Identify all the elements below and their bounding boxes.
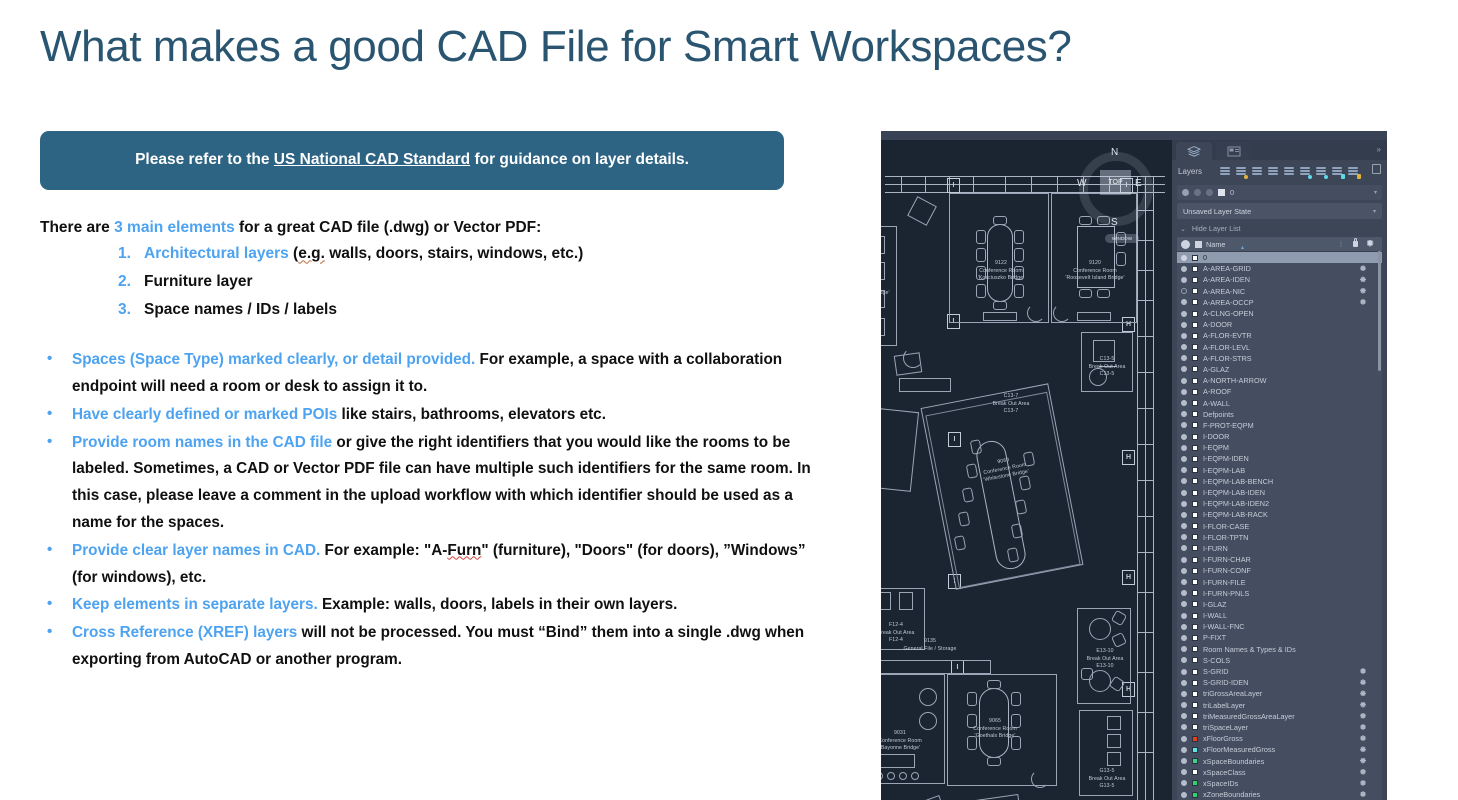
layer-visibility-icon[interactable] xyxy=(1181,512,1187,518)
room-label: 9120 Conference Room 'Roosevelt Island B… xyxy=(1063,260,1127,283)
layer-color-swatch[interactable] xyxy=(1192,311,1198,317)
break-area-label: C13-7 Break Out Area C13-7 xyxy=(987,393,1035,416)
layer-row[interactable]: xZoneBoundaries xyxy=(1177,789,1382,800)
layer-visibility-icon[interactable] xyxy=(1181,590,1187,596)
bullet-rest: Example: walls, doors, labels in their o… xyxy=(318,596,678,613)
layer-name: I-FURN xyxy=(1203,544,1348,553)
layer-color-swatch[interactable] xyxy=(1192,713,1198,719)
layer-row[interactable]: xSpaceBoundaries xyxy=(1177,755,1382,766)
layer-color-swatch[interactable] xyxy=(1192,680,1198,686)
layer-visibility-icon[interactable] xyxy=(1181,355,1187,361)
layer-row[interactable]: S-GRID xyxy=(1177,666,1382,677)
list-item-squiggle: e.g. xyxy=(298,245,325,262)
layer-visibility-icon[interactable] xyxy=(1181,769,1187,775)
layer-name: I-FURN-PNLS xyxy=(1203,589,1348,598)
layer-color-swatch[interactable] xyxy=(1192,780,1198,786)
layer-row[interactable]: A-AREA-OCCP xyxy=(1177,297,1382,308)
layer-visibility-icon[interactable] xyxy=(1181,378,1187,384)
layer-visibility-icon[interactable] xyxy=(1181,467,1187,473)
layer-color-swatch[interactable] xyxy=(1192,467,1198,473)
list-item-number: 1. xyxy=(118,245,144,263)
break-area-code: E13-10 xyxy=(1096,663,1113,669)
new-layer-button[interactable] xyxy=(1218,164,1233,179)
intro-line: There are 3 main elements for a great CA… xyxy=(40,218,830,237)
layer-list-scrollbar[interactable] xyxy=(1378,251,1381,371)
layer-name: I-WALL xyxy=(1203,611,1348,620)
layer-row[interactable]: triGrossAreaLayer xyxy=(1177,688,1382,699)
layer-color-swatch[interactable] xyxy=(1192,266,1198,272)
layer-row[interactable]: A-GLAZ xyxy=(1177,364,1382,375)
room-id: 9120 xyxy=(1089,260,1101,266)
layer-row[interactable]: I-FURN xyxy=(1177,543,1382,554)
current-layer-name: 0 xyxy=(1230,188,1234,197)
layer-row[interactable]: S-COLS xyxy=(1177,655,1382,666)
layer-visibility-icon[interactable] xyxy=(1181,702,1187,708)
layer-color-swatch[interactable] xyxy=(1192,747,1198,753)
layer-color-swatch[interactable] xyxy=(1192,478,1198,484)
layer-row[interactable]: triLabelLayer xyxy=(1177,700,1382,711)
layer-color-swatch[interactable] xyxy=(1192,411,1198,417)
layer-row[interactable]: P-FIXT xyxy=(1177,632,1382,643)
layer-row[interactable]: A-FLOR-EVTR xyxy=(1177,330,1382,341)
layer-visibility-icon[interactable] xyxy=(1181,747,1187,753)
break-area-id: C13-7 xyxy=(1004,393,1019,399)
list-item: Provide room names in the CAD file or gi… xyxy=(40,430,830,537)
list-item: 1. Architectural layers (e.g. walls, doo… xyxy=(40,245,830,263)
layer-name: I-FLOR-CASE xyxy=(1203,522,1348,531)
layer-color-swatch[interactable] xyxy=(1192,792,1198,798)
layer-color-swatch[interactable] xyxy=(1192,288,1198,294)
layer-visibility-icon[interactable] xyxy=(1181,400,1187,406)
layer-visibility-icon[interactable] xyxy=(1181,299,1187,305)
room-alias: 'Roosevelt Island Bridge' xyxy=(1065,275,1124,281)
layer-visibility-icon[interactable] xyxy=(1181,557,1187,563)
layer-color-swatch[interactable] xyxy=(1192,702,1198,708)
layer-unlock-button[interactable] xyxy=(1346,164,1361,179)
color-column-icon[interactable] xyxy=(1195,241,1202,248)
layer-color-swatch[interactable] xyxy=(1192,601,1198,607)
compass-west: W xyxy=(1077,178,1086,189)
layer-row[interactable]: Defpoints xyxy=(1177,409,1382,420)
layer-visibility-icon[interactable] xyxy=(1181,288,1187,294)
list-item: Keep elements in separate layers. Exampl… xyxy=(40,592,830,619)
layer-name: I-EQPM-IDEN xyxy=(1203,454,1348,463)
layer-visibility-icon[interactable] xyxy=(1181,277,1187,283)
break-area-code: C13-7 xyxy=(1004,408,1019,414)
layer-freeze-button[interactable] xyxy=(1298,164,1313,179)
layer-name: A-FLOR-STRS xyxy=(1203,354,1348,363)
layer-row[interactable]: I-DOOR xyxy=(1177,431,1382,442)
layer-visibility-icon[interactable] xyxy=(1181,545,1187,551)
layer-color-swatch[interactable] xyxy=(1192,545,1198,551)
layer-row[interactable]: S-GRID-IDEN xyxy=(1177,677,1382,688)
layer-visibility-icon[interactable] xyxy=(1181,724,1187,730)
plot-icon xyxy=(1360,668,1366,674)
plot-icon xyxy=(1360,702,1366,708)
list-item: Cross Reference (XREF) layers will not b… xyxy=(40,620,830,674)
layer-visibility-icon[interactable] xyxy=(1181,389,1187,395)
bullet-accent: Have clearly defined or marked POIs xyxy=(72,406,337,423)
break-area-name: Break Out Area xyxy=(1089,776,1126,782)
layer-color-swatch[interactable] xyxy=(1192,557,1198,563)
palette-title: Layers xyxy=(1178,167,1218,176)
banner-text-after: for guidance on layer details. xyxy=(470,151,689,168)
compass-north: N xyxy=(1111,147,1118,158)
layer-plot-cell[interactable] xyxy=(1348,298,1378,307)
layer-color-swatch[interactable] xyxy=(1192,534,1198,540)
layer-color-swatch[interactable] xyxy=(1192,434,1198,440)
layer-name: I-FURN-CHAR xyxy=(1203,555,1348,564)
layer-row[interactable]: I-EQPM-LAB-BENCH xyxy=(1177,476,1382,487)
layer-name: A-ROOF xyxy=(1203,387,1348,396)
layer-color-swatch[interactable] xyxy=(1192,501,1198,507)
collapse-chevrons-icon[interactable]: » xyxy=(1377,145,1381,154)
chevron-down-icon[interactable]: ▾ xyxy=(1374,189,1377,196)
list-item-number: 2. xyxy=(118,273,144,291)
bullet-accent: Keep elements in separate layers. xyxy=(72,596,318,613)
layer-visibility-icon[interactable] xyxy=(1181,456,1187,462)
layer-color-swatch[interactable] xyxy=(1192,355,1198,361)
layer-visibility-icon[interactable] xyxy=(1181,411,1187,417)
layer-visibility-icon[interactable] xyxy=(1181,366,1187,372)
layer-row[interactable]: I-FLOR-TPTN xyxy=(1177,532,1382,543)
bullet-accent: Cross Reference (XREF) layers xyxy=(72,624,297,641)
layer-row[interactable]: A-AREA-GRID xyxy=(1177,263,1382,274)
layer-visibility-icon[interactable] xyxy=(1181,579,1187,585)
layer-plot-cell[interactable] xyxy=(1348,701,1378,710)
layer-name: I-DOOR xyxy=(1203,432,1348,441)
break-area-label: G13-5 Break Out Area G13-5 xyxy=(1083,768,1131,791)
layer-properties-button[interactable] xyxy=(1234,164,1249,179)
layer-color-swatch[interactable] xyxy=(1192,422,1198,428)
layer-row[interactable]: A-CLNG-OPEN xyxy=(1177,308,1382,319)
intro-accent: 3 main elements xyxy=(114,219,235,236)
layer-thaw-button[interactable] xyxy=(1314,164,1329,179)
us-national-cad-standard-link[interactable]: US National CAD Standard xyxy=(274,151,470,168)
layer-plot-cell[interactable] xyxy=(1348,745,1378,754)
layer-color-swatch[interactable] xyxy=(1192,646,1198,652)
layer-state-select[interactable]: Unsaved Layer State ▾ xyxy=(1177,203,1382,219)
list-item-accent: Furniture layer xyxy=(144,273,253,291)
layer-name: A-DOOR xyxy=(1203,320,1348,329)
room-name: Conference Room xyxy=(881,738,922,744)
layer-color-swatch[interactable] xyxy=(1192,758,1198,764)
layer-row[interactable]: xFloorMeasuredGross xyxy=(1177,744,1382,755)
palette-tabs: » xyxy=(1172,140,1387,160)
visibility-column-icon[interactable] xyxy=(1181,240,1190,249)
chevron-down-icon: ⌄ xyxy=(1180,225,1186,233)
layer-plot-cell[interactable] xyxy=(1348,723,1378,732)
list-item: Provide clear layer names in CAD. For ex… xyxy=(40,538,830,592)
layer-visibility-icon[interactable] xyxy=(1181,601,1187,607)
layer-visibility-icon[interactable] xyxy=(1181,434,1187,440)
bullet-rest-a: For example: "A- xyxy=(320,542,447,559)
layer-visibility-icon[interactable] xyxy=(1181,490,1187,496)
list-item: 3. Space names / IDs / labels xyxy=(40,301,830,319)
plot-icon xyxy=(1360,769,1366,775)
layer-color-swatch[interactable] xyxy=(1192,277,1198,283)
layer-name: A-WALL xyxy=(1203,399,1348,408)
layer-plot-cell[interactable] xyxy=(1348,667,1378,676)
freeze-icon[interactable] xyxy=(1206,189,1213,196)
slide-root: What makes a good CAD File for Smart Wor… xyxy=(0,0,1458,800)
layer-name: I-FURN-FILE xyxy=(1203,578,1348,587)
content-column: There are 3 main elements for a great CA… xyxy=(40,218,830,675)
layer-color-swatch[interactable] xyxy=(1192,255,1198,261)
plot-column-icon[interactable] xyxy=(1362,240,1378,249)
plot-icon xyxy=(1360,265,1366,271)
lock-icon[interactable] xyxy=(1194,189,1201,196)
layer-visibility-icon[interactable] xyxy=(1181,523,1187,529)
layer-row[interactable]: xSpaceClass xyxy=(1177,767,1382,778)
layer-visibility-icon[interactable] xyxy=(1181,780,1187,786)
layer-color-swatch[interactable] xyxy=(1192,344,1198,350)
layer-visibility-icon[interactable] xyxy=(1181,311,1187,317)
room-label: 9122 Conference Room 'Kosciuszko Bridge' xyxy=(971,260,1031,283)
hide-layer-list-toggle[interactable]: ⌄ Hide Layer List xyxy=(1177,222,1382,235)
layer-color-swatch[interactable] xyxy=(1192,400,1198,406)
layer-color-swatch[interactable] xyxy=(1192,523,1198,529)
layer-row[interactable]: A-DOOR xyxy=(1177,319,1382,330)
layer-name: I-EQPM-LAB-RACK xyxy=(1203,510,1348,519)
layer-color-swatch[interactable] xyxy=(1192,736,1198,742)
bullet-accent: Spaces (Space Type) marked clearly, or d… xyxy=(72,351,475,368)
break-area-label: C13-5 Break Out Area C13-5 xyxy=(1083,356,1131,379)
layer-name: P-FIXT xyxy=(1203,633,1348,642)
break-area-id: E13-10 xyxy=(1096,648,1113,654)
layer-visibility-icon[interactable] xyxy=(1181,568,1187,574)
layer-visibility-icon[interactable] xyxy=(1181,657,1187,663)
layer-color-swatch[interactable] xyxy=(1192,579,1198,585)
layer-row[interactable]: I-EQPM-LAB xyxy=(1177,465,1382,476)
layer-color-swatch[interactable] xyxy=(1192,456,1198,462)
layer-lock-button[interactable] xyxy=(1330,164,1345,179)
layer-color-swatch[interactable] xyxy=(1192,299,1198,305)
layer-row[interactable]: I-EQPM xyxy=(1177,442,1382,453)
layer-color-swatch[interactable] xyxy=(1192,657,1198,663)
main-elements-list: 1. Architectural layers (e.g. walls, doo… xyxy=(40,245,830,319)
layer-visibility-icon[interactable] xyxy=(1181,445,1187,451)
layer-row[interactable]: A-AREA-NIC xyxy=(1177,286,1382,297)
layer-color-swatch[interactable] xyxy=(1192,635,1198,641)
break-area-id: F12-4 xyxy=(889,622,903,628)
break-area-code: G13-5 xyxy=(1100,783,1115,789)
current-layer-row[interactable]: 0 ▾ xyxy=(1177,185,1382,200)
layer-plot-cell[interactable] xyxy=(1348,275,1378,284)
properties-icon xyxy=(1227,146,1241,157)
layer-row[interactable]: I-EQPM-LAB-IDEN2 xyxy=(1177,498,1382,509)
layer-visibility-icon[interactable] xyxy=(1181,713,1187,719)
layer-color-swatch[interactable] xyxy=(1192,322,1198,328)
layer-name: I-GLAZ xyxy=(1203,600,1348,609)
layer-row[interactable]: 0 xyxy=(1177,252,1382,263)
chevron-down-icon[interactable]: ▾ xyxy=(1373,208,1376,215)
layer-color-swatch[interactable] xyxy=(1192,490,1198,496)
tab-layers[interactable] xyxy=(1176,142,1212,160)
layer-visibility-icon[interactable] xyxy=(1181,635,1187,641)
layer-name: A-FLOR-EVTR xyxy=(1203,331,1348,340)
layer-row[interactable]: I-EQPM-LAB-IDEN xyxy=(1177,487,1382,498)
list-item-rest-pre: ( xyxy=(289,245,298,262)
layer-visibility-icon[interactable] xyxy=(1181,422,1187,428)
layer-row[interactable]: I-EQPM-LAB-RACK xyxy=(1177,509,1382,520)
layer-plot-cell[interactable] xyxy=(1348,757,1378,766)
break-area-name: Break Out Area xyxy=(1087,656,1124,662)
layer-visibility-icon[interactable] xyxy=(1181,534,1187,540)
layer-name: I-FURN-CONF xyxy=(1203,566,1348,575)
layer-color-swatch[interactable] xyxy=(1192,366,1198,372)
layer-name: triLabelLayer xyxy=(1203,701,1348,710)
layer-color-swatch[interactable] xyxy=(1192,512,1198,518)
layer-color-swatch[interactable] xyxy=(1192,769,1198,775)
layer-color-swatch[interactable] xyxy=(1192,724,1198,730)
layer-plot-cell[interactable] xyxy=(1348,689,1378,698)
room-alias: 'Goethals Bridge' xyxy=(975,733,1016,739)
layer-name: S-GRID xyxy=(1203,667,1348,676)
layer-row[interactable]: Room Names & Types & IDs xyxy=(1177,644,1382,655)
layer-color-swatch[interactable] xyxy=(1192,691,1198,697)
layer-row[interactable]: I-FURN-FILE xyxy=(1177,576,1382,587)
layer-name: A-NORTH-ARROW xyxy=(1203,376,1348,385)
plot-icon xyxy=(1360,713,1366,719)
layer-visibility-icon[interactable] xyxy=(1181,792,1187,798)
column-options-icon[interactable]: ⁞ xyxy=(1334,240,1348,249)
layer-visibility-icon[interactable] xyxy=(1181,266,1187,272)
layer-color-swatch[interactable] xyxy=(1192,613,1198,619)
layer-isolate-button[interactable] xyxy=(1266,164,1281,179)
layer-name: S-COLS xyxy=(1203,656,1348,665)
break-area-name: Break Out Area xyxy=(993,401,1030,407)
layer-color-swatch[interactable] xyxy=(1192,333,1198,339)
layer-row[interactable]: I-GLAZ xyxy=(1177,599,1382,610)
navcube-top-face[interactable]: TOP xyxy=(1100,170,1131,195)
plot-icon xyxy=(1360,276,1366,282)
room-name: Conference Room xyxy=(973,726,1017,732)
layer-name: F-PROT-EQPM xyxy=(1203,421,1348,430)
layer-color-swatch[interactable] xyxy=(1192,568,1198,574)
layer-plot-cell[interactable] xyxy=(1348,712,1378,721)
layer-visibility-icon[interactable] xyxy=(1181,758,1187,764)
layer-visibility-icon[interactable] xyxy=(1181,478,1187,484)
layer-row[interactable]: I-WALL-FNC xyxy=(1177,621,1382,632)
break-area-code: C13-5 xyxy=(1100,371,1115,377)
layer-row[interactable]: triSpaceLayer xyxy=(1177,722,1382,733)
layer-row[interactable]: I-WALL xyxy=(1177,610,1382,621)
layer-plot-cell[interactable] xyxy=(1348,287,1378,296)
cad-drawing-canvas[interactable]: I I I H I H I H I H Bridge' xyxy=(881,140,1172,800)
window-tooltip-pill: WINDOW xyxy=(1105,234,1139,243)
list-item-rest-post: walls, doors, stairs, windows, etc.) xyxy=(325,245,583,262)
layer-row[interactable]: A-ROOF xyxy=(1177,386,1382,397)
layer-name: triSpaceLayer xyxy=(1203,723,1348,732)
layer-color-swatch[interactable] xyxy=(1192,389,1198,395)
layer-visibility-icon[interactable] xyxy=(1181,501,1187,507)
layer-color-swatch[interactable] xyxy=(1218,189,1225,196)
plot-icon xyxy=(1360,735,1366,741)
layer-color-swatch[interactable] xyxy=(1192,624,1198,630)
layer-visibility-icon[interactable] xyxy=(1181,669,1187,675)
layer-row[interactable]: I-FLOR-CASE xyxy=(1177,521,1382,532)
layer-color-swatch[interactable] xyxy=(1192,669,1198,675)
layer-visibility-icon[interactable] xyxy=(1181,691,1187,697)
layer-name: xZoneBoundaries xyxy=(1203,790,1348,799)
layer-plot-cell[interactable] xyxy=(1348,734,1378,743)
layer-color-swatch[interactable] xyxy=(1192,378,1198,384)
layer-row[interactable]: triMeasuredGrossAreaLayer xyxy=(1177,711,1382,722)
banner-text: Please refer to the US National CAD Stan… xyxy=(135,151,689,170)
layer-plot-cell[interactable] xyxy=(1348,768,1378,777)
layer-name: I-EQPM-LAB xyxy=(1203,466,1348,475)
layer-row[interactable]: I-EQPM-IDEN xyxy=(1177,453,1382,464)
layer-color-swatch[interactable] xyxy=(1192,445,1198,451)
layer-name: I-WALL-FNC xyxy=(1203,622,1348,631)
intro-prefix: There are xyxy=(40,219,114,236)
detach-palette-icon[interactable] xyxy=(1372,164,1381,174)
cad-application-screenshot: I I I H I H I H I H Bridge' xyxy=(881,131,1387,800)
layer-plot-cell[interactable] xyxy=(1348,790,1378,799)
plot-icon xyxy=(1360,679,1366,685)
layer-visibility-icon[interactable] xyxy=(1181,613,1187,619)
intro-suffix: for a great CAD file (.dwg) or Vector PD… xyxy=(235,219,542,236)
layer-name: 0 xyxy=(1203,253,1348,262)
layer-name: I-EQPM-LAB-IDEN2 xyxy=(1203,499,1348,508)
layer-color-swatch[interactable] xyxy=(1192,590,1198,596)
layer-plot-cell[interactable] xyxy=(1348,264,1378,273)
list-item-accent: Architectural layers xyxy=(144,245,289,262)
layer-rows-container[interactable]: 0A-AREA-GRIDA-AREA-IDENA-AREA-NICA-AREA-… xyxy=(1177,252,1382,800)
layer-row[interactable]: F-PROT-EQPM xyxy=(1177,420,1382,431)
bullet-accent: Provide room names in the CAD file xyxy=(72,434,332,451)
layer-row[interactable]: xFloorGross xyxy=(1177,733,1382,744)
layer-list-table[interactable]: Name ⁞ ▴ 0A-AREA-GRIDA-AREA-IDENA-AREA-N… xyxy=(1177,237,1382,800)
visibility-icon[interactable] xyxy=(1182,189,1189,196)
room-label: 9065 Conference Room 'Goethals Bridge' xyxy=(963,718,1027,741)
break-area-name: Break Out Area xyxy=(1089,364,1126,370)
layer-unisolate-button[interactable] xyxy=(1282,164,1297,179)
name-column-header[interactable]: Name xyxy=(1206,240,1334,249)
layer-name: I-EQPM-LAB-IDEN xyxy=(1203,488,1348,497)
room-label: 9031 Conference Room 'Bayonne Bridge' xyxy=(881,730,933,753)
layer-row[interactable]: A-FLOR-STRS xyxy=(1177,353,1382,364)
layer-row[interactable]: I-FURN-PNLS xyxy=(1177,588,1382,599)
layer-row[interactable]: I-FURN-CHAR xyxy=(1177,554,1382,565)
layer-row[interactable]: xSpaceIDs xyxy=(1177,778,1382,789)
layer-row[interactable]: A-WALL xyxy=(1177,397,1382,408)
layer-visibility-icon[interactable] xyxy=(1181,680,1187,686)
layer-row[interactable]: A-AREA-IDEN xyxy=(1177,274,1382,285)
lock-column-icon[interactable] xyxy=(1348,240,1362,249)
room-id: 9135 xyxy=(924,638,936,644)
layer-states-button[interactable] xyxy=(1250,164,1265,179)
layer-visibility-icon[interactable] xyxy=(1181,322,1187,328)
layer-visibility-icon[interactable] xyxy=(1181,333,1187,339)
layer-row[interactable]: A-NORTH-ARROW xyxy=(1177,375,1382,386)
layer-row[interactable]: I-FURN-CONF xyxy=(1177,565,1382,576)
layer-plot-cell[interactable] xyxy=(1348,678,1378,687)
tab-properties[interactable] xyxy=(1216,142,1252,160)
layer-row[interactable]: A-FLOR-LEVL xyxy=(1177,342,1382,353)
layer-visibility-icon[interactable] xyxy=(1181,646,1187,652)
layer-plot-cell[interactable] xyxy=(1348,779,1378,788)
layer-visibility-icon[interactable] xyxy=(1181,736,1187,742)
layer-visibility-icon[interactable] xyxy=(1181,344,1187,350)
compass-east: E xyxy=(1135,178,1142,189)
layer-name: S-GRID-IDEN xyxy=(1203,678,1348,687)
list-item-accent: Space names / IDs / labels xyxy=(144,301,337,319)
layer-visibility-icon[interactable] xyxy=(1181,624,1187,630)
bullet-rest: like stairs, bathrooms, elevators etc. xyxy=(337,406,606,423)
layer-visibility-icon[interactable] xyxy=(1181,255,1187,261)
